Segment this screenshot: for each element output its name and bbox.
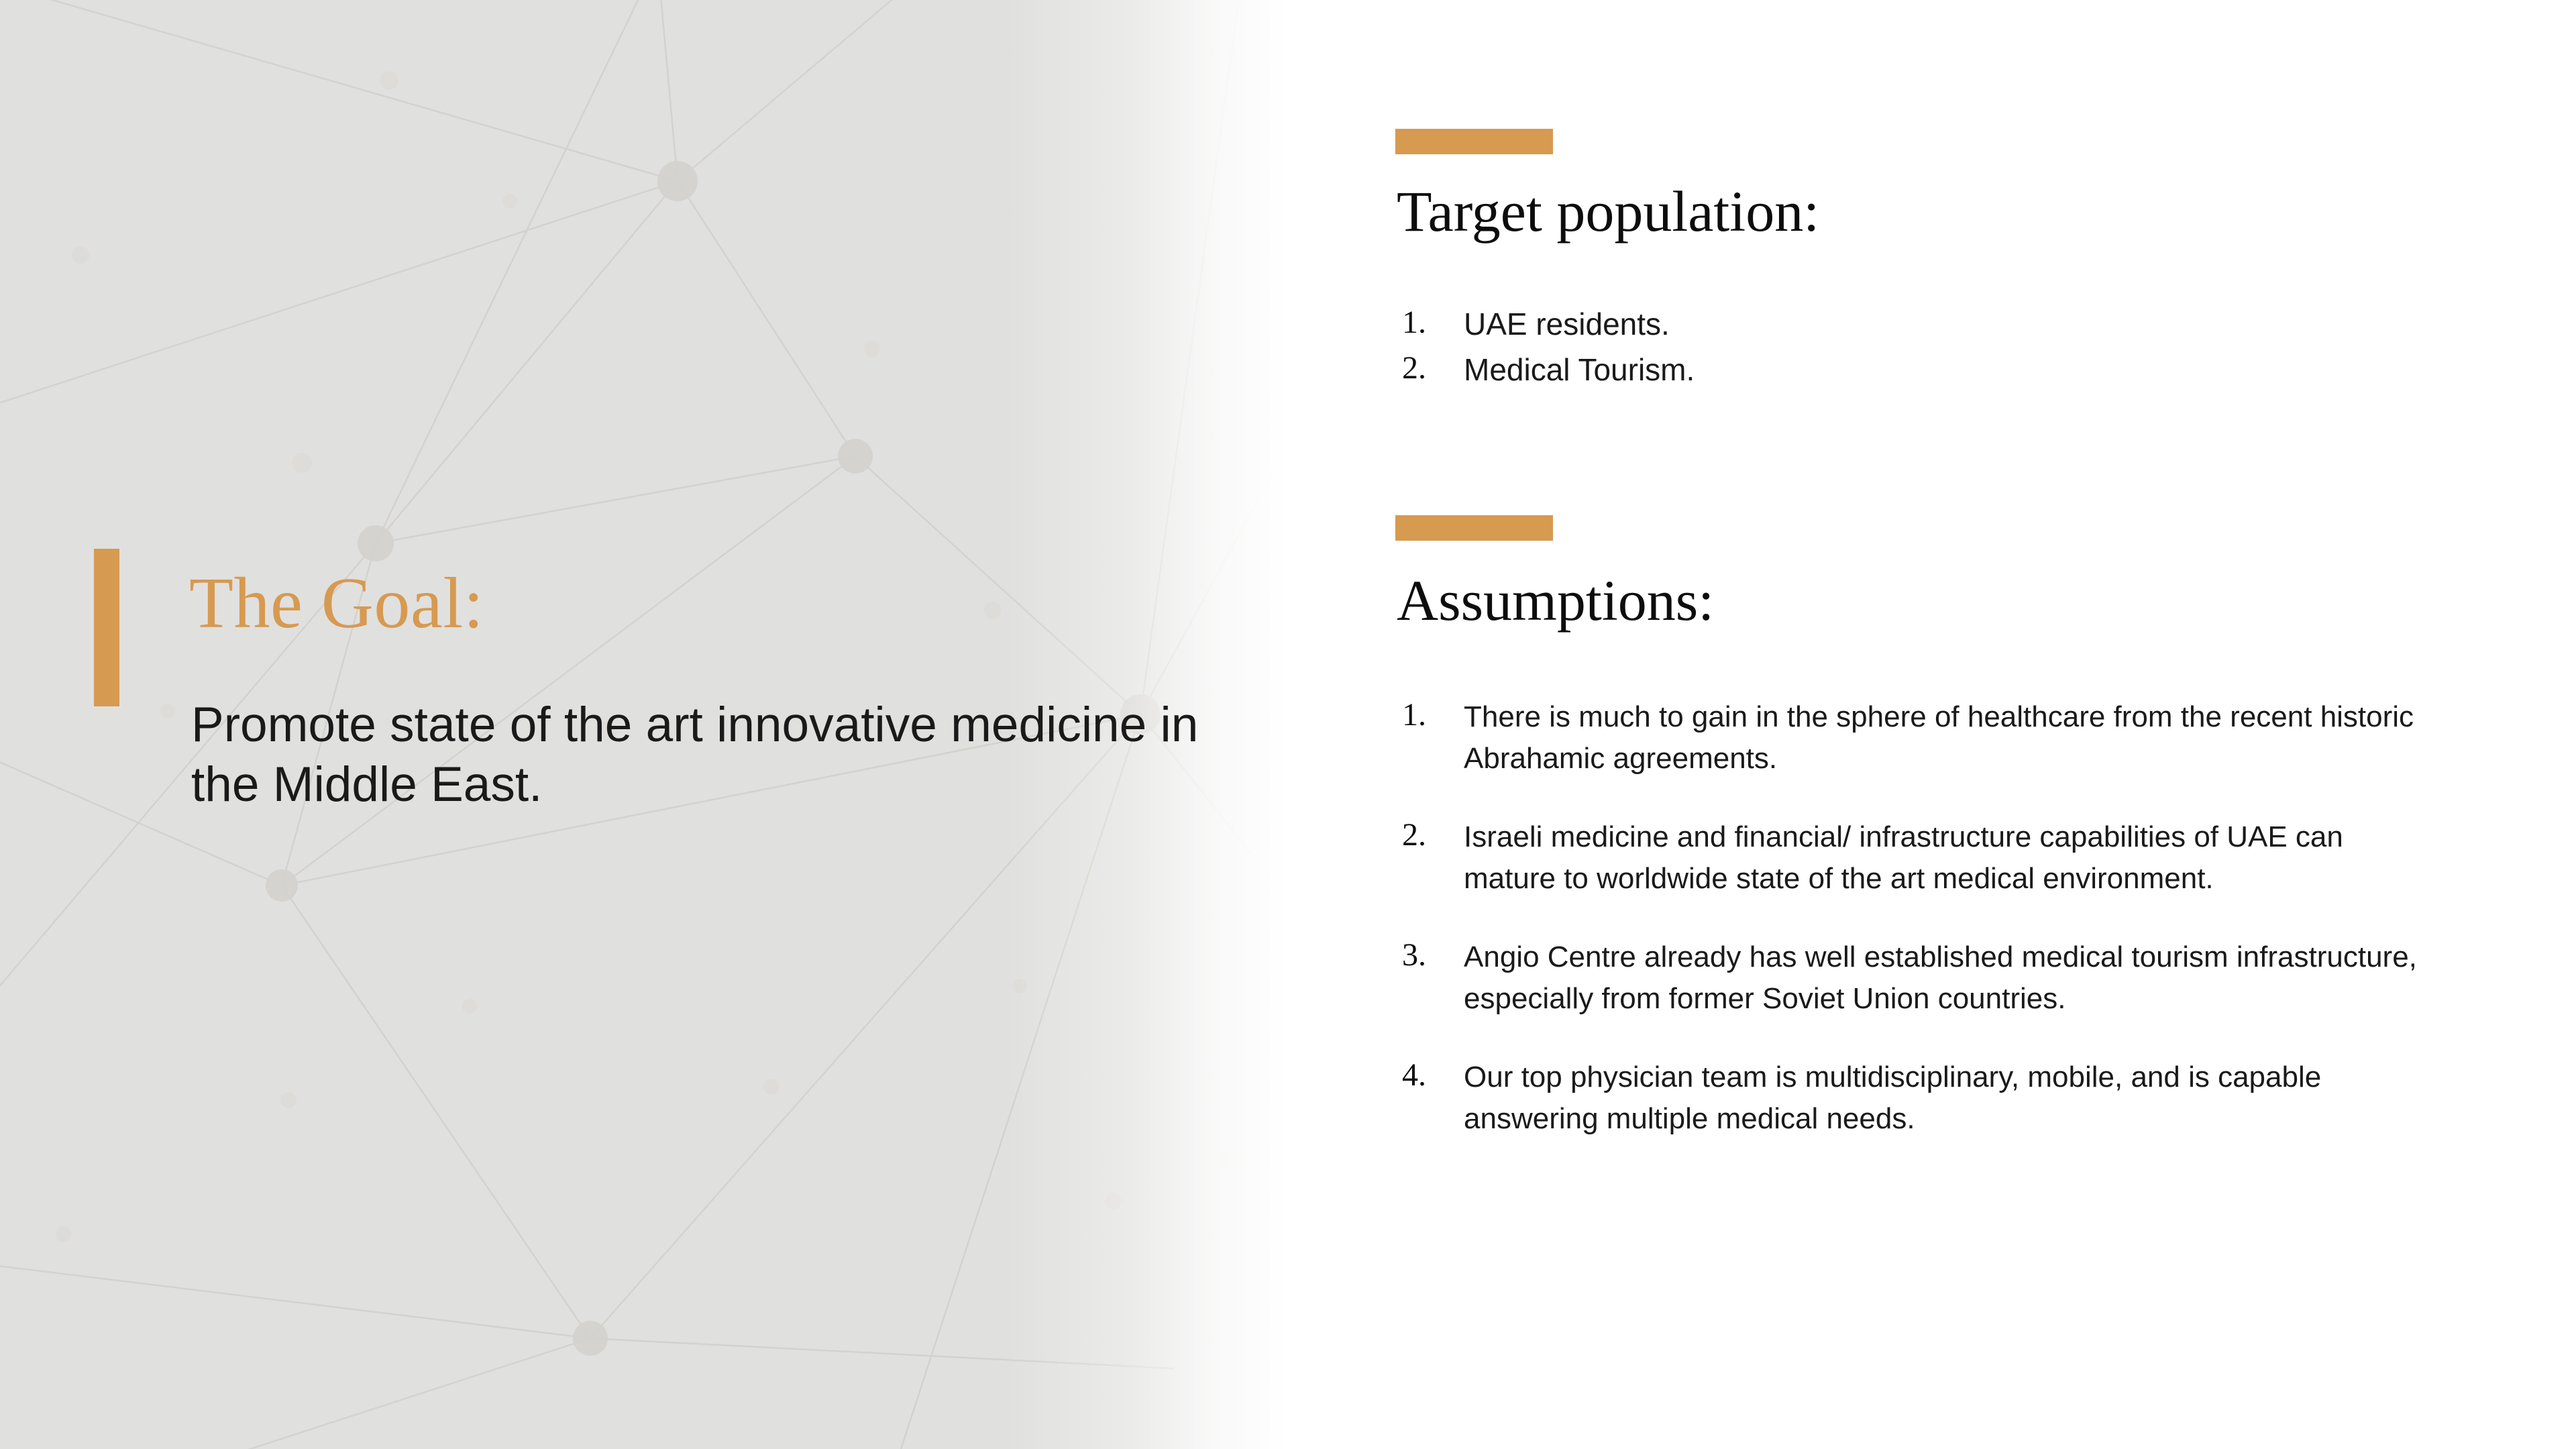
- target-population-heading: Target population:: [1397, 182, 1819, 240]
- target-population-list: 1. UAE residents. 2. Medical Tourism.: [1402, 305, 2207, 396]
- list-item-number: 2.: [1402, 352, 1426, 384]
- right-column: Target population: 1. UAE residents. 2. …: [1395, 0, 2536, 1449]
- list-item-number: 1.: [1402, 307, 1426, 339]
- assumptions-heading: Assumptions:: [1397, 572, 1714, 629]
- goal-body-text: Promote state of the art innovative medi…: [191, 695, 1238, 814]
- list-item: 2. Medical Tourism.: [1402, 351, 2207, 388]
- target-population-accent-bar: [1395, 129, 1553, 154]
- assumptions-list: 1. There is much to gain in the sphere o…: [1402, 696, 2428, 1177]
- list-item-number: 3.: [1402, 939, 1426, 971]
- list-item: 1. UAE residents.: [1402, 305, 2207, 343]
- goal-title: The Goal:: [189, 568, 484, 640]
- list-item-text: There is much to gain in the sphere of h…: [1464, 696, 2428, 780]
- list-item-text: UAE residents.: [1464, 305, 2207, 343]
- list-item-text: Israeli medicine and financial/ infrastr…: [1464, 816, 2428, 900]
- list-item-number: 2.: [1402, 819, 1426, 851]
- goal-accent-bar: [94, 549, 119, 706]
- list-item: 3. Angio Centre already has well establi…: [1402, 936, 2428, 1020]
- list-item-number: 4.: [1402, 1059, 1426, 1091]
- network-minor-node-group: [56, 71, 1317, 1242]
- list-item: 1. There is much to gain in the sphere o…: [1402, 696, 2428, 780]
- list-item-text: Angio Centre already has well establishe…: [1464, 936, 2428, 1020]
- list-item: 4. Our top physician team is multidiscip…: [1402, 1057, 2428, 1140]
- list-item-text: Our top physician team is multidisciplin…: [1464, 1057, 2428, 1140]
- presentation-slide: The Goal: Promote state of the art innov…: [0, 0, 2576, 1449]
- list-item-number: 1.: [1402, 699, 1426, 731]
- assumptions-accent-bar: [1395, 515, 1553, 541]
- list-item-text: Medical Tourism.: [1464, 351, 2207, 388]
- list-item: 2. Israeli medicine and financial/ infra…: [1402, 816, 2428, 900]
